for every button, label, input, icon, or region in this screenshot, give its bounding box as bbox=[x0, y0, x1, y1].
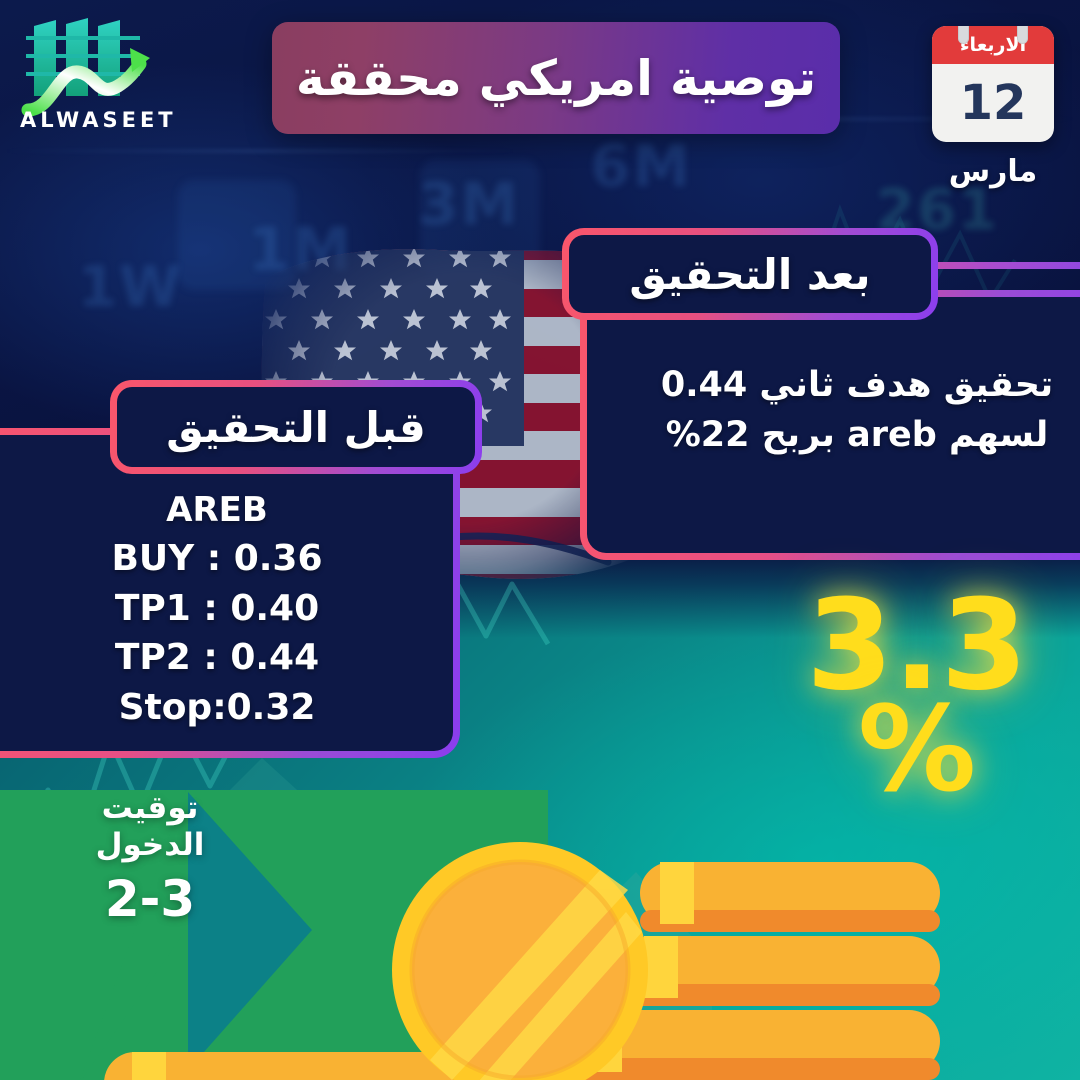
entry-timing-label-1: توقيت bbox=[40, 790, 260, 827]
ghost-label-1w: 1W bbox=[78, 255, 183, 320]
entry-timing: توقيت الدخول 2-3 bbox=[40, 790, 260, 928]
calendar-header: الاربعاء bbox=[932, 26, 1054, 64]
after-card-pill: بعد التحقيق bbox=[562, 228, 938, 320]
ghost-label-6m: 6M bbox=[590, 132, 692, 200]
brand-name: ALWASEET bbox=[20, 108, 177, 132]
ghost-line-1 bbox=[0, 150, 520, 152]
connector-line-right bbox=[920, 262, 1080, 269]
profit-percent-badge: 3.3 % bbox=[772, 588, 1062, 804]
before-card-pill-label: قبل التحقيق bbox=[166, 403, 426, 452]
before-card-content: AREB BUY : 0.36 TP1 : 0.40 TP2 : 0.44 St… bbox=[0, 487, 467, 733]
before-symbol: AREB bbox=[0, 487, 467, 534]
before-tp2: TP2 : 0.44 bbox=[0, 633, 467, 683]
before-card: AREB BUY : 0.36 TP1 : 0.40 TP2 : 0.44 St… bbox=[0, 428, 460, 758]
entry-timing-value: 2-3 bbox=[40, 870, 260, 928]
after-card-pill-label: بعد التحقيق bbox=[629, 250, 870, 299]
before-tp1: TP1 : 0.40 bbox=[0, 584, 467, 634]
calendar-month: مارس bbox=[932, 154, 1054, 189]
after-card-content: تحقيق هدف ثاني 0.44 لسهم areb بربح 22% bbox=[587, 361, 1080, 460]
calendar-card: الاربعاء 12 bbox=[932, 26, 1054, 142]
before-card-pill: قبل التحقيق bbox=[110, 380, 482, 474]
entry-timing-label-2: الدخول bbox=[40, 827, 260, 864]
calendar-day-number: 12 bbox=[932, 64, 1054, 142]
after-line-2: لسهم areb بربح 22% bbox=[607, 411, 1080, 461]
after-card: تحقيق هدف ثاني 0.44 لسهم areb بربح 22% bbox=[580, 290, 1080, 560]
calendar-ring-left-icon bbox=[958, 26, 969, 44]
calendar-ring-right-icon bbox=[1017, 26, 1028, 44]
before-stop: Stop:0.32 bbox=[0, 683, 467, 733]
ghost-label-3m: 3M bbox=[418, 170, 520, 238]
page-title: توصية امريكي محققة bbox=[296, 50, 816, 107]
page-title-banner: توصية امريكي محققة bbox=[272, 22, 840, 134]
after-line-1: تحقيق هدف ثاني 0.44 bbox=[607, 361, 1080, 411]
before-buy: BUY : 0.36 bbox=[0, 534, 467, 584]
poster-canvas: 1W 1M 3M 6M 261 bbox=[0, 0, 1080, 1080]
date-calendar: الاربعاء 12 مارس bbox=[932, 26, 1054, 189]
